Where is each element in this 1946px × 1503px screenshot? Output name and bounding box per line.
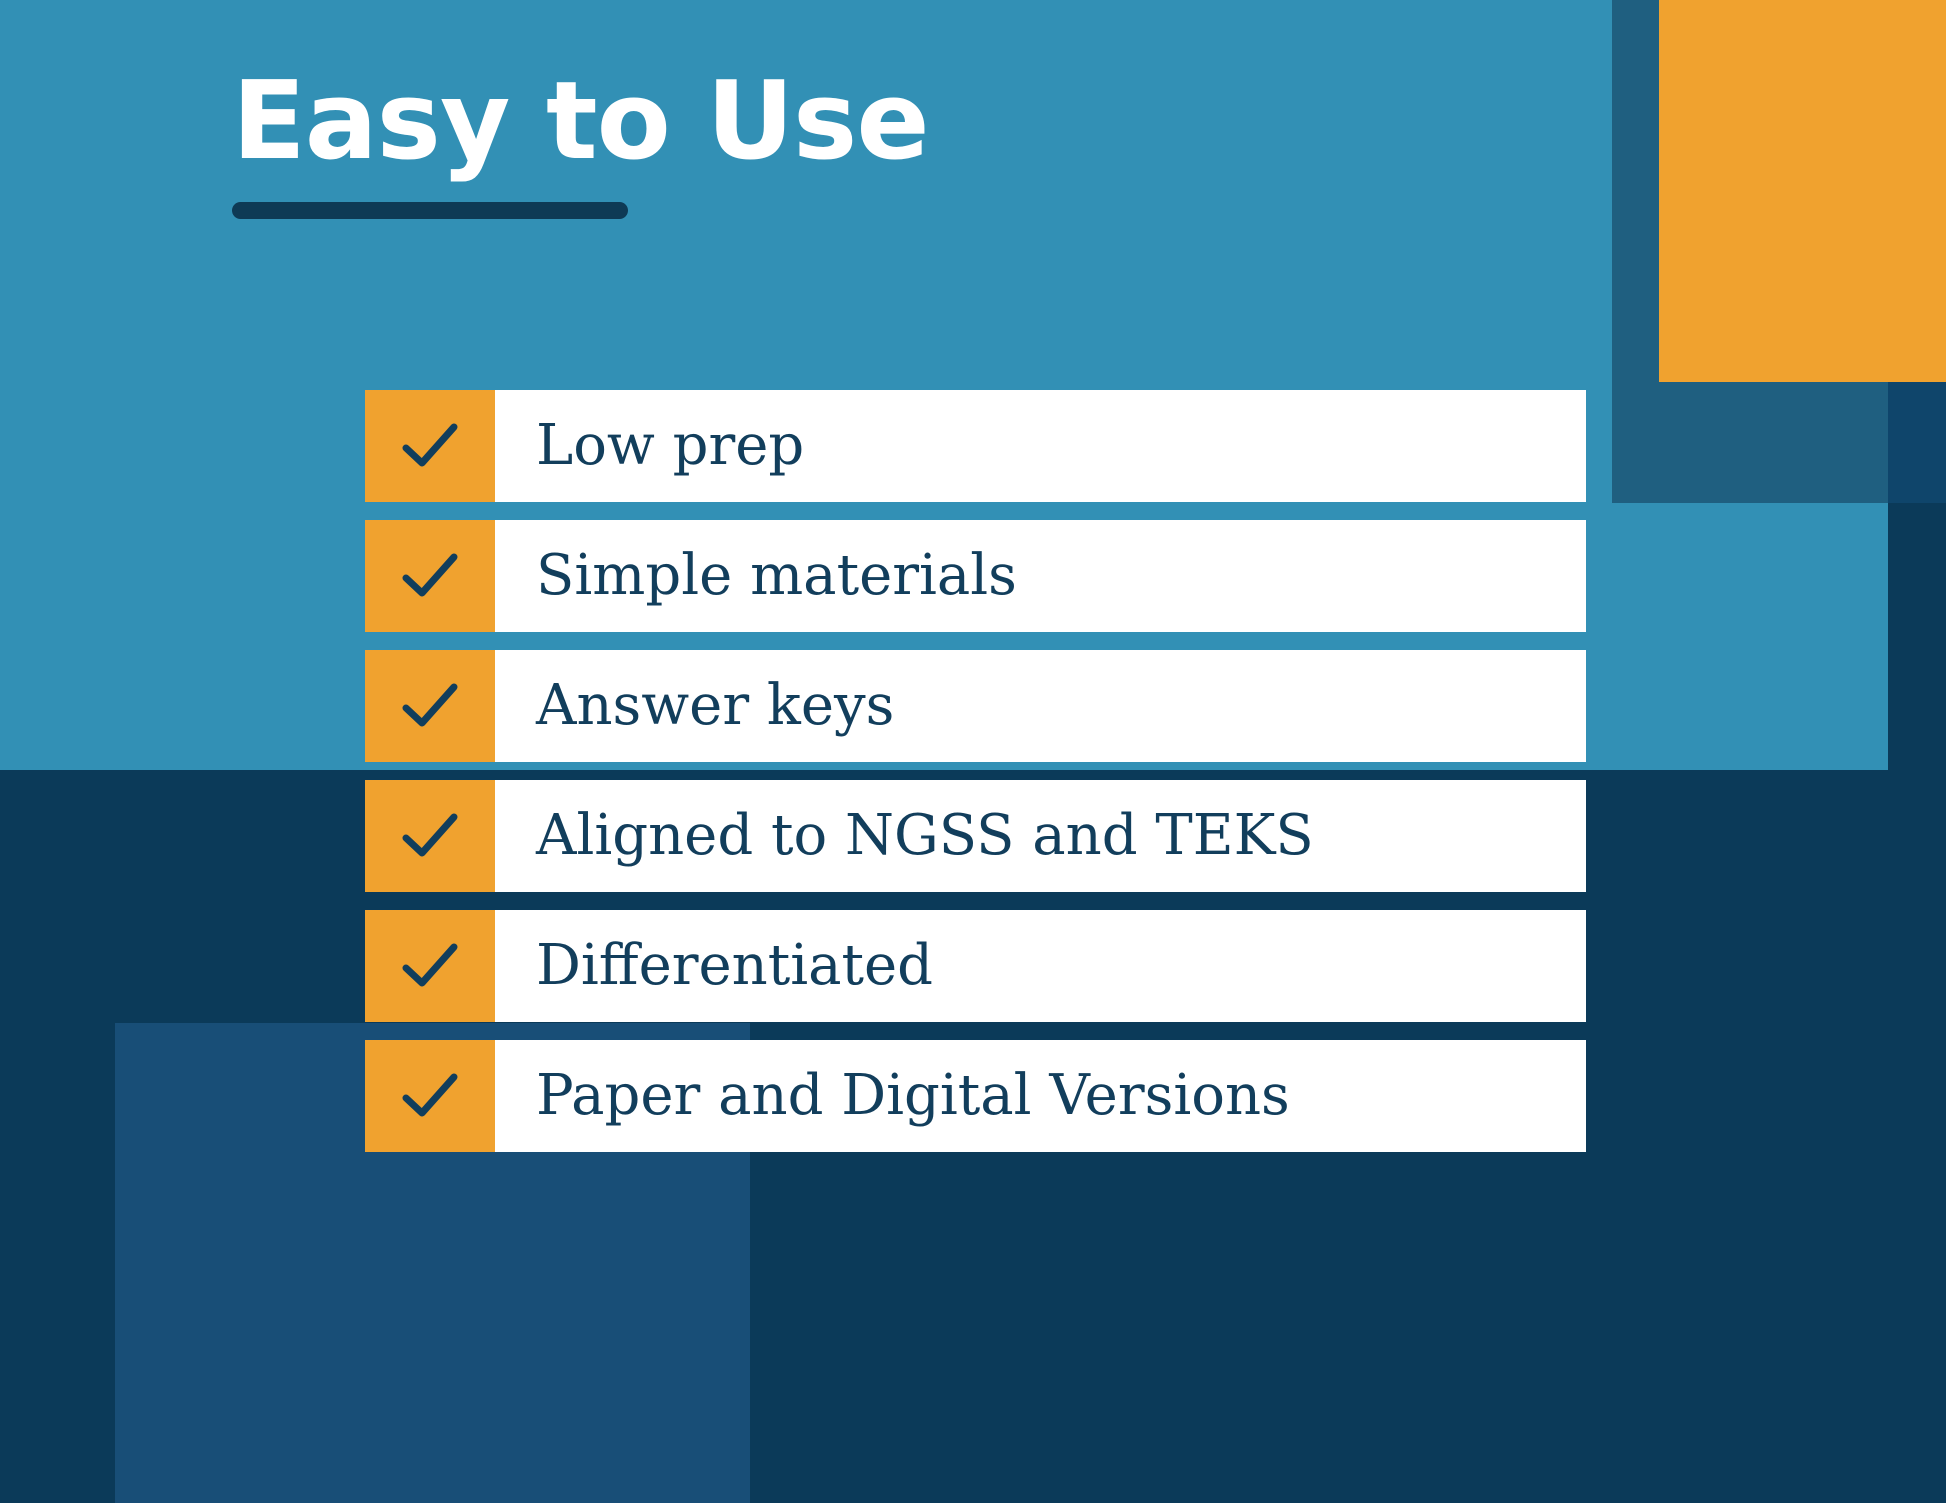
list-item[interactable]: Paper and Digital Versions <box>365 1040 1586 1152</box>
list-item[interactable]: Answer keys <box>365 650 1586 762</box>
checkbox-checked[interactable] <box>365 1040 495 1152</box>
title-underline-rule <box>232 202 628 219</box>
background-orange-square <box>1659 0 1946 382</box>
list-item[interactable]: Differentiated <box>365 910 1586 1022</box>
checkbox-checked[interactable] <box>365 910 495 1022</box>
check-icon <box>398 674 462 738</box>
check-icon <box>398 414 462 478</box>
check-icon <box>398 1064 462 1128</box>
background-navy-right-upper-block <box>1888 382 1946 503</box>
page-title: Easy to Use <box>232 60 1532 184</box>
header: Easy to Use <box>232 60 1532 219</box>
background-teal-right-band <box>1612 503 1888 770</box>
checkbox-checked[interactable] <box>365 650 495 762</box>
check-icon <box>398 804 462 868</box>
list-item-label: Simple materials <box>495 520 1586 632</box>
checkbox-checked[interactable] <box>365 780 495 892</box>
list-item-label: Differentiated <box>495 910 1586 1022</box>
list-item-label: Low prep <box>495 390 1586 502</box>
background-navy-right-lower-block <box>1888 503 1946 770</box>
list-item-label: Answer keys <box>495 650 1586 762</box>
list-item[interactable]: Low prep <box>365 390 1586 502</box>
list-item-label: Paper and Digital Versions <box>495 1040 1586 1152</box>
slide-canvas: Easy to Use Low prep S <box>0 0 1946 1503</box>
list-item-label: Aligned to NGSS and TEKS <box>495 780 1586 892</box>
check-icon <box>398 934 462 998</box>
list-item[interactable]: Aligned to NGSS and TEKS <box>365 780 1586 892</box>
check-icon <box>398 544 462 608</box>
checkbox-checked[interactable] <box>365 390 495 502</box>
checkbox-checked[interactable] <box>365 520 495 632</box>
feature-checklist: Low prep Simple materials Answer <box>365 390 1586 1152</box>
list-item[interactable]: Simple materials <box>365 520 1586 632</box>
